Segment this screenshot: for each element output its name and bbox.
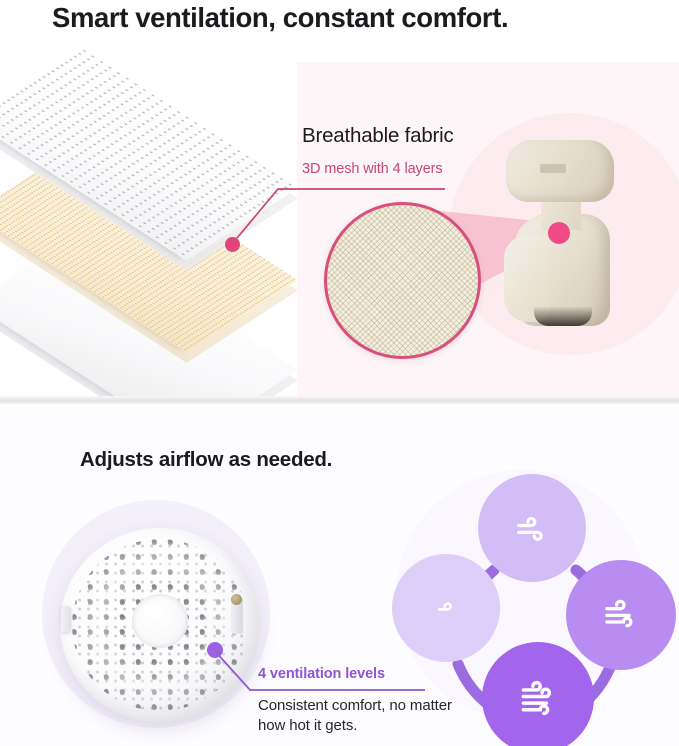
ventilation-level-2-circle[interactable] — [478, 474, 586, 582]
section-breathable-fabric: Smart ventilation, constant comfort. — [0, 0, 679, 398]
wind-level-3-icon — [600, 594, 642, 636]
section-divider — [0, 396, 679, 404]
section-adjusts-airflow: Adjusts airflow as needed. 4 ventilation… — [0, 404, 679, 746]
wind-level-4-icon — [516, 676, 560, 720]
ventilation-levels-label: 4 ventilation levels — [258, 666, 385, 682]
seat-marker-dot — [548, 222, 570, 244]
3d-mesh-sublabel: 3D mesh with 4 layers — [302, 161, 443, 177]
wind-level-2-icon — [512, 508, 552, 548]
ventilation-level-diagram — [390, 466, 679, 746]
ventilation-level-3-circle[interactable] — [566, 560, 676, 670]
infographic-page: Smart ventilation, constant comfort. — [0, 0, 679, 746]
ventilation-level-1-circle[interactable] — [392, 554, 500, 662]
wind-level-1-icon — [429, 591, 463, 625]
fan-marker-dot — [207, 642, 223, 658]
breathable-fabric-label: Breathable fabric — [302, 124, 454, 148]
fabric-callout-line — [0, 0, 679, 398]
ventilation-level-4-circle[interactable] — [482, 642, 594, 746]
fabric-layer-marker-dot — [225, 237, 240, 252]
